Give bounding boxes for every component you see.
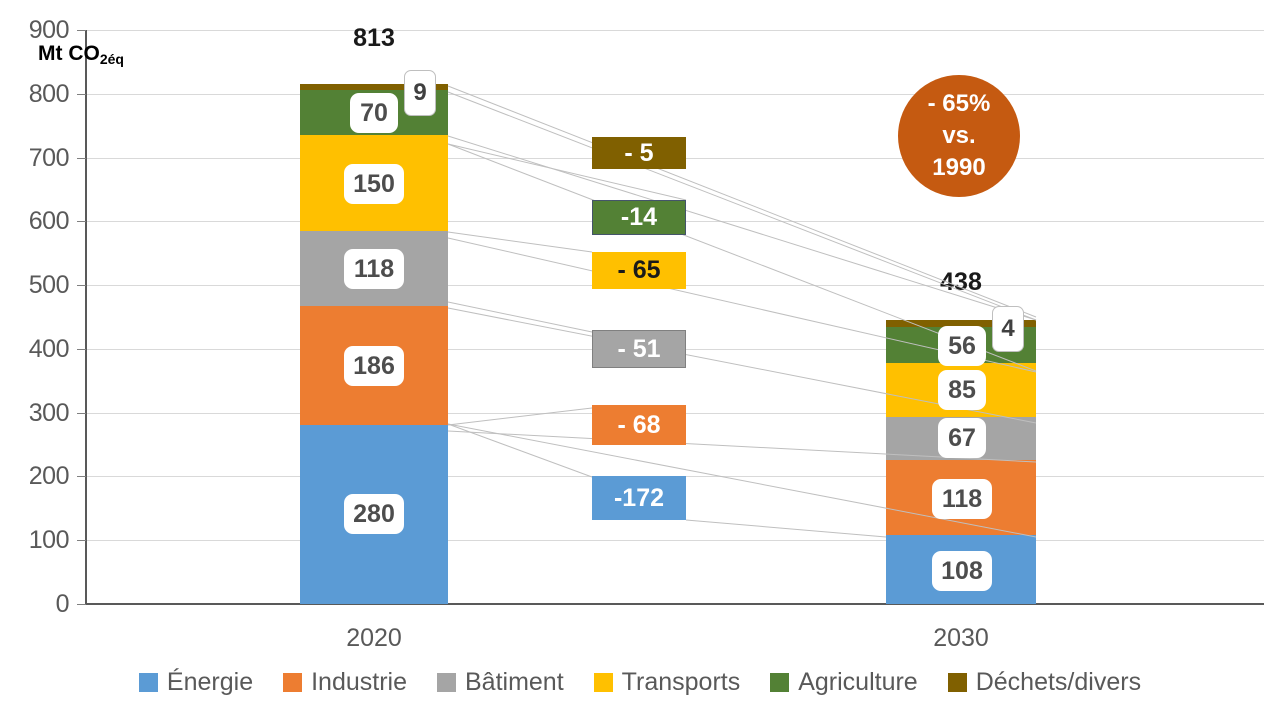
y-tick-mark-200 <box>77 476 86 477</box>
legend-item-energie[interactable]: Énergie <box>139 668 253 697</box>
legend-item-industrie[interactable]: Industrie <box>283 668 407 697</box>
x-axis-label-2020: 2020 <box>264 624 484 653</box>
reduction-target-badge: - 65% vs. 1990 <box>898 75 1020 197</box>
delta-box-agriculture[interactable]: -14 <box>592 200 686 235</box>
bar-2020-label-batiment: 118 <box>344 249 404 289</box>
gridline-100 <box>86 540 1264 541</box>
bar-2030-label-dechets: 4 <box>992 306 1024 352</box>
legend-item-agriculture[interactable]: Agriculture <box>770 668 918 697</box>
y-tick-label-0: 0 <box>1 590 69 619</box>
bar-2030-label-industrie: 118 <box>932 479 992 519</box>
legend-swatch-icon-dechets <box>948 673 967 692</box>
y-tick-label-200: 200 <box>1 462 69 491</box>
bar-2020-label-industrie: 186 <box>344 346 404 386</box>
delta-box-energie[interactable]: -172 <box>592 476 686 520</box>
legend-item-transports[interactable]: Transports <box>594 668 741 697</box>
legend-label-energie: Énergie <box>167 668 253 697</box>
y-axis-title-sub: 2éq <box>100 51 124 67</box>
y-tick-label-500: 500 <box>1 271 69 300</box>
y-axis-title-main: Mt CO <box>38 42 100 65</box>
bar-total-2020: 813 <box>274 24 474 53</box>
emissions-stacked-bar-chart: 900 800 700 600 500 400 300 200 100 0 Mt… <box>0 0 1280 720</box>
x-axis-line <box>85 603 1264 605</box>
y-axis-line <box>85 30 87 605</box>
y-tick-mark-300 <box>77 413 86 414</box>
bar-2030-label-energie: 108 <box>932 551 992 591</box>
y-tick-label-700: 700 <box>1 144 69 173</box>
y-tick-label-300: 300 <box>1 399 69 428</box>
bar-2030-label-transports: 85 <box>938 370 986 410</box>
bar-2020-label-transports: 150 <box>344 164 404 204</box>
y-tick-mark-600 <box>77 221 86 222</box>
legend-label-dechets: Déchets/divers <box>976 668 1141 697</box>
delta-box-dechets[interactable]: - 5 <box>592 137 686 169</box>
y-tick-mark-100 <box>77 540 86 541</box>
bar-2030-label-batiment: 67 <box>938 418 986 458</box>
bar-2020-label-energie: 280 <box>344 494 404 534</box>
delta-box-industrie[interactable]: - 68 <box>592 405 686 445</box>
delta-box-transports[interactable]: - 65 <box>592 252 686 289</box>
legend-label-agriculture: Agriculture <box>798 668 918 697</box>
y-tick-mark-700 <box>77 158 86 159</box>
legend-swatch-icon-transports <box>594 673 613 692</box>
y-tick-mark-500 <box>77 285 86 286</box>
chart-legend: Énergie Industrie Bâtiment Transports Ag… <box>0 668 1280 697</box>
delta-box-batiment[interactable]: - 51 <box>592 330 686 368</box>
y-tick-mark-400 <box>77 349 86 350</box>
y-tick-label-100: 100 <box>1 526 69 555</box>
y-tick-label-600: 600 <box>1 207 69 236</box>
y-tick-label-400: 400 <box>1 335 69 364</box>
legend-swatch-icon-agriculture <box>770 673 789 692</box>
legend-item-dechets[interactable]: Déchets/divers <box>948 668 1141 697</box>
bar-2020-label-dechets: 9 <box>404 70 436 116</box>
legend-label-batiment: Bâtiment <box>465 668 564 697</box>
y-tick-label-900: 900 <box>1 16 69 45</box>
legend-label-transports: Transports <box>622 668 741 697</box>
legend-label-industrie: Industrie <box>311 668 407 697</box>
reduction-percent: - 65% <box>928 88 991 120</box>
bar-2020-label-agriculture: 70 <box>350 93 398 133</box>
bar-2030-label-agriculture: 56 <box>938 326 986 366</box>
y-axis-title: Mt CO2éq <box>38 42 124 66</box>
bar-total-2030: 438 <box>861 268 1061 297</box>
y-tick-mark-0 <box>77 604 86 605</box>
reduction-vs-label: vs. <box>942 120 975 152</box>
y-tick-label-800: 800 <box>1 80 69 109</box>
legend-item-batiment[interactable]: Bâtiment <box>437 668 564 697</box>
legend-swatch-icon-energie <box>139 673 158 692</box>
y-tick-mark-900 <box>77 30 86 31</box>
gridline-900 <box>86 30 1264 31</box>
y-tick-mark-800 <box>77 94 86 95</box>
x-axis-label-2030: 2030 <box>851 624 1071 653</box>
legend-swatch-icon-industrie <box>283 673 302 692</box>
legend-swatch-icon-batiment <box>437 673 456 692</box>
gridline-800 <box>86 94 1264 95</box>
reduction-baseline-year: 1990 <box>932 152 985 184</box>
